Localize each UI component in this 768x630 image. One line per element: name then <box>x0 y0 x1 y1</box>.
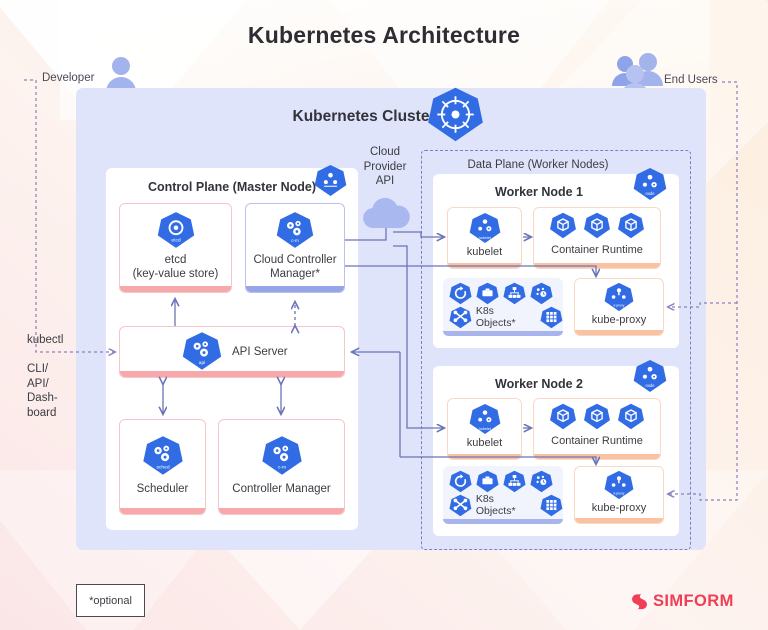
simform-logo: SIMFORM <box>630 592 734 611</box>
svg-text:etcd: etcd <box>171 237 181 243</box>
svg-text:c-m: c-m <box>291 238 299 243</box>
deployment-icon <box>449 470 472 493</box>
kube-proxy-icon: k-proxy <box>604 470 634 505</box>
container-runtime-card[interactable]: Container Runtime <box>533 398 661 460</box>
kubelet-icon: kubelet <box>469 403 501 440</box>
cronjob-icon <box>530 282 553 305</box>
job-icon <box>476 282 499 305</box>
svg-text:sched: sched <box>156 465 169 471</box>
pod-icon-group <box>550 403 645 430</box>
pod-icon <box>618 403 645 430</box>
kubelet-card[interactable]: kubelet kubelet <box>447 207 522 269</box>
simform-logo-icon <box>630 592 649 611</box>
control-plane-icon <box>314 164 347 202</box>
cloud-provider-api-label: Cloud Provider API <box>354 145 416 189</box>
pod-icon-group <box>550 212 645 239</box>
kubelet-label: kubelet <box>448 246 521 260</box>
kubernetes-helm-icon <box>427 86 484 148</box>
etcd-label: etcd (key-value store) <box>120 254 231 281</box>
job-icon <box>476 470 499 493</box>
cloud-controller-manager-card[interactable]: c-m Cloud Controller Manager* <box>245 203 345 293</box>
scheduler-label: Scheduler <box>120 483 205 497</box>
kube-proxy-label: kube-proxy <box>575 502 663 516</box>
kubelet-card[interactable]: kubelet kubelet <box>447 398 522 460</box>
controller-manager-label: Controller Manager <box>219 483 344 497</box>
etcd-icon: etcd <box>157 211 195 254</box>
etcd-card[interactable]: etcd etcd (key-value store) <box>119 203 232 293</box>
container-runtime-label: Container Runtime <box>534 244 660 258</box>
svg-text:kubelet: kubelet <box>479 427 490 431</box>
service-icon <box>503 282 526 305</box>
k8s-objects-icon-row-1 <box>449 470 553 493</box>
end-users-label: End Users <box>664 74 718 86</box>
replicaset-icon <box>540 306 563 329</box>
node-icon: node <box>633 167 667 206</box>
simform-brand-text: SIMFORM <box>653 592 734 611</box>
api-server-icon: api <box>182 331 222 376</box>
service-icon <box>503 470 526 493</box>
k8s-objects-label: K8s Objects* <box>476 493 536 517</box>
controller-manager-icon: c-m <box>276 211 314 254</box>
k8s-objects-icon-row-2: K8s Objects* <box>449 305 563 329</box>
cloud-controller-manager-label: Cloud Controller Manager* <box>246 254 344 281</box>
svg-text:k-proxy: k-proxy <box>614 304 625 308</box>
k8s-objects-icon-row-2: K8s Objects* <box>449 493 563 517</box>
controller-manager-icon: c-m <box>261 435 302 481</box>
cloud-icon <box>358 194 414 235</box>
optional-note-box: *optional <box>76 584 145 617</box>
page-title: Kubernetes Architecture <box>0 22 768 49</box>
pod-icon <box>550 212 577 239</box>
optional-note-text: *optional <box>89 595 132 607</box>
kube-proxy-card[interactable]: k-proxy kube-proxy <box>574 466 664 524</box>
kubectl-label: kubectl <box>27 334 63 346</box>
pod-icon <box>550 403 577 430</box>
svg-text:api: api <box>199 360 205 366</box>
container-runtime-card[interactable]: Container Runtime <box>533 207 661 269</box>
kubelet-label: kubelet <box>448 437 521 451</box>
svg-text:c-m: c-m <box>277 466 285 471</box>
api-server-card[interactable]: api API Server <box>119 326 345 378</box>
api-server-label: API Server <box>232 346 345 360</box>
controller-manager-card[interactable]: c-m Controller Manager <box>218 419 345 515</box>
cronjob-icon <box>530 470 553 493</box>
kube-proxy-card[interactable]: k-proxy kube-proxy <box>574 278 664 336</box>
deployment-icon <box>449 282 472 305</box>
k8s-objects-icon-row-1 <box>449 282 553 305</box>
kubelet-icon: kubelet <box>469 212 501 249</box>
k8s-objects-card[interactable]: K8s Objects* <box>443 466 563 524</box>
scheduler-card[interactable]: sched Scheduler <box>119 419 206 515</box>
svg-text:kubelet: kubelet <box>479 236 490 240</box>
developer-label: Developer <box>42 72 94 84</box>
pod-icon <box>584 212 611 239</box>
kube-proxy-icon: k-proxy <box>604 282 634 317</box>
svg-text:node: node <box>645 191 655 196</box>
pod-group-icon <box>449 494 472 517</box>
diagram-root: Kubernetes Architecture Developer End Us… <box>0 0 768 630</box>
container-runtime-label: Container Runtime <box>534 435 660 449</box>
scheduler-icon: sched <box>142 435 183 481</box>
cluster-title: Kubernetes Cluster <box>76 108 706 126</box>
kube-proxy-label: kube-proxy <box>575 314 663 328</box>
k8s-objects-card[interactable]: K8s Objects* <box>443 278 563 336</box>
pod-icon <box>584 403 611 430</box>
svg-text:node: node <box>645 383 655 388</box>
k8s-objects-label: K8s Objects* <box>476 305 536 329</box>
node-icon: node <box>633 359 667 398</box>
replicaset-icon <box>540 494 563 517</box>
svg-text:k-proxy: k-proxy <box>614 492 625 496</box>
pod-group-icon <box>449 306 472 329</box>
pod-icon <box>618 212 645 239</box>
